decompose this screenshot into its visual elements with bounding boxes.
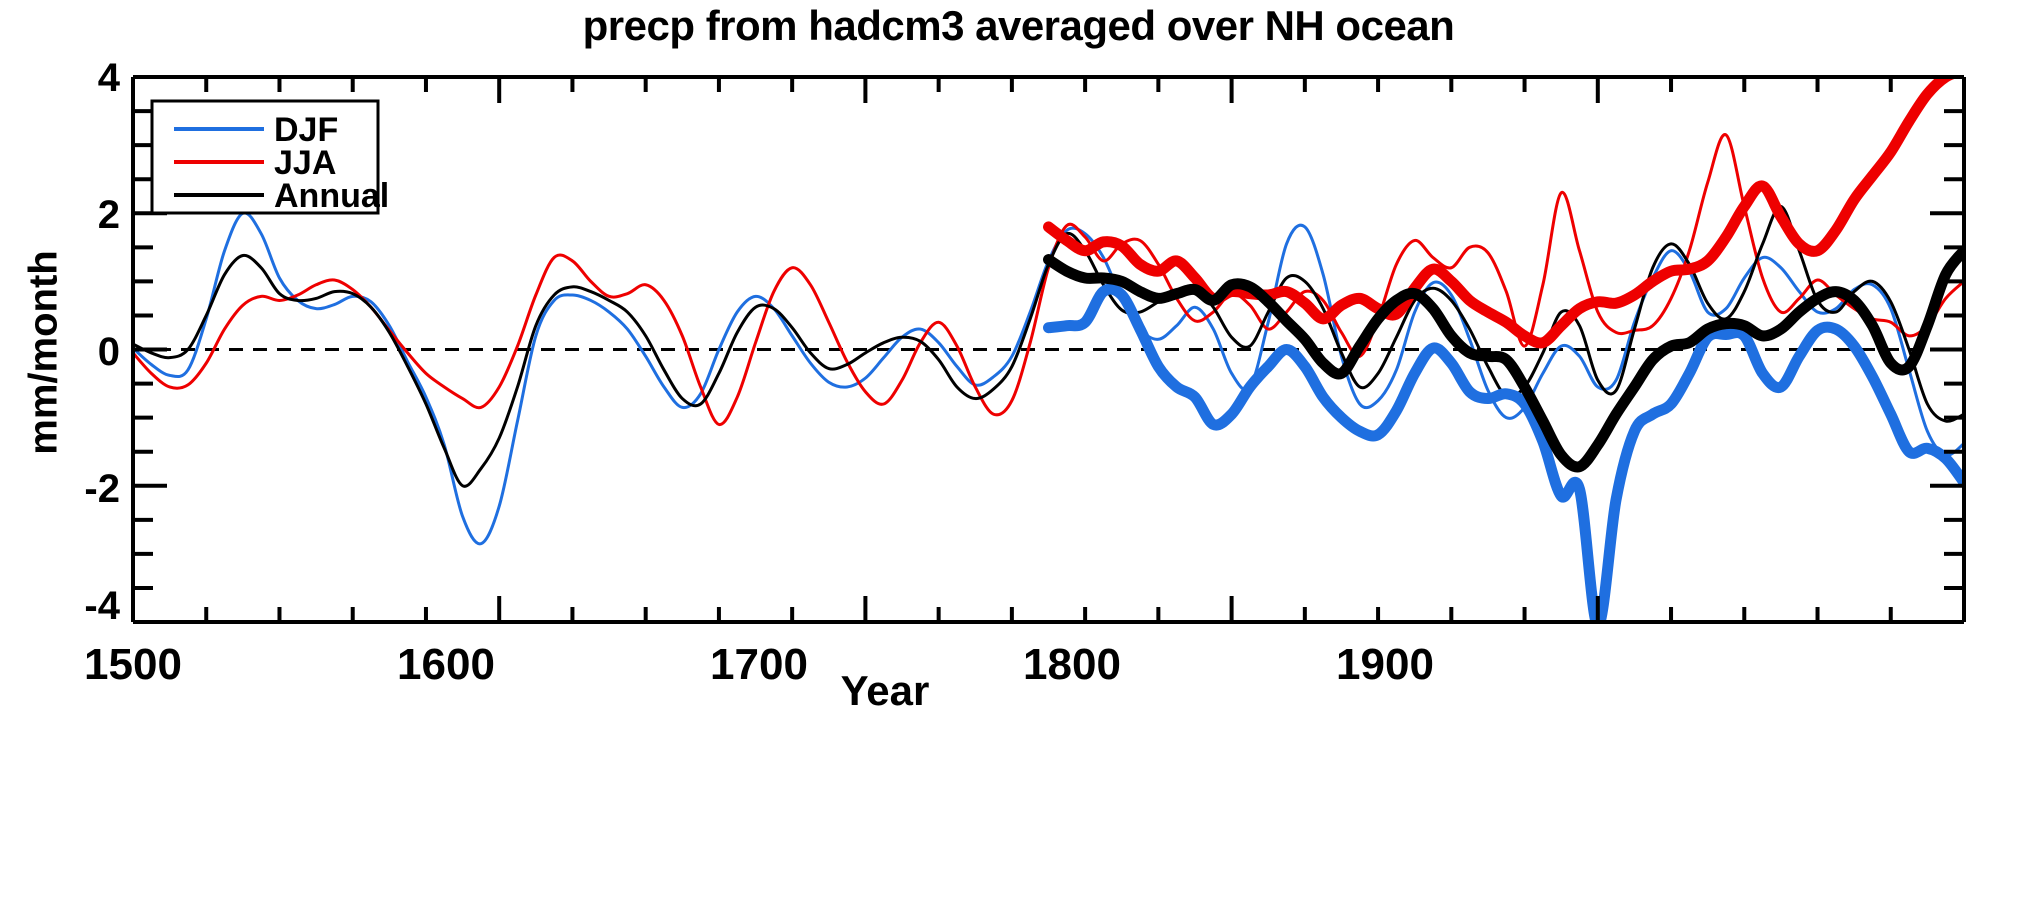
series-line-annual_thick	[1049, 251, 1965, 467]
legend-box[interactable]: DJFJJAAnnual	[152, 101, 389, 215]
series-layer	[133, 70, 1964, 625]
plot-area: DJFJJAAnnual	[0, 0, 2037, 923]
series-line-jja_thick	[1049, 70, 1965, 343]
legend-label-annual[interactable]: Annual	[274, 177, 389, 215]
series-line-djf_thick	[1049, 289, 1965, 625]
chart-figure: precp from hadcm3 averaged over NH ocean…	[0, 0, 2037, 923]
